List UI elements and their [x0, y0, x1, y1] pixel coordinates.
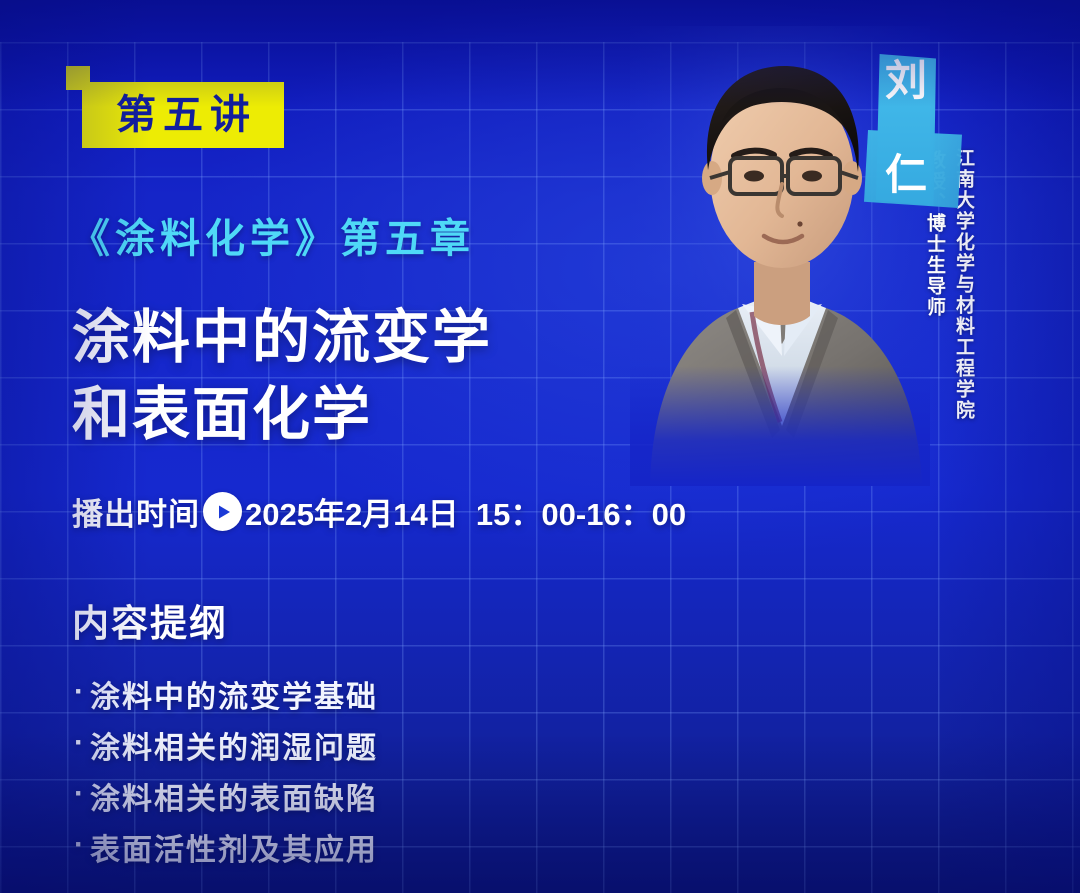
list-item: · 涂料相关的润湿问题: [74, 719, 378, 770]
bullet-icon: ·: [74, 728, 90, 758]
broadcast-row: 播出时间 2025年2月14日 15：00-16：00: [72, 489, 686, 534]
broadcast-label: 播出时间: [72, 489, 200, 534]
outline-item-label: 涂料中的流变学基础: [90, 672, 378, 716]
page-title: 涂料中的流变学 和表面化学: [72, 300, 492, 453]
portrait-fade: [630, 366, 930, 486]
lecture-badge-body: 第五讲: [82, 82, 284, 148]
outline-item-label: 表面活性剂及其应用: [90, 825, 378, 869]
speaker-name-char-1: 刘: [885, 60, 927, 102]
list-item: · 表面活性剂及其应用: [74, 821, 378, 872]
bullet-icon: ·: [74, 677, 90, 707]
play-triangle-icon[interactable]: [203, 492, 242, 531]
outline-item-label: 涂料相关的表面缺陷: [90, 774, 378, 818]
bullet-icon: ·: [74, 830, 90, 860]
speaker-name-char-2: 仁: [885, 154, 927, 196]
list-item: · 涂料相关的表面缺陷: [74, 770, 378, 821]
outline-item-label: 涂料相关的润湿问题: [90, 723, 378, 767]
speaker-name-panel: 刘 仁: [876, 54, 936, 206]
outline-heading: 内容提纲: [72, 593, 228, 647]
series-subtitle: 《涂料化学》第五章: [70, 206, 475, 264]
list-item: · 涂料中的流变学基础: [74, 668, 378, 719]
outline-list: · 涂料中的流变学基础 · 涂料相关的润湿问题 · 涂料相关的表面缺陷 · 表面…: [74, 668, 378, 872]
bullet-icon: ·: [74, 779, 90, 809]
broadcast-datetime: 2025年2月14日 15：00-16：00: [245, 489, 686, 534]
lecture-poster: 江南大学化学与材料工程学院 教授、博士生导师 刘 仁 第五讲 《涂料化学》第五章…: [0, 0, 1080, 893]
lecture-badge-label: 第五讲: [109, 95, 257, 135]
